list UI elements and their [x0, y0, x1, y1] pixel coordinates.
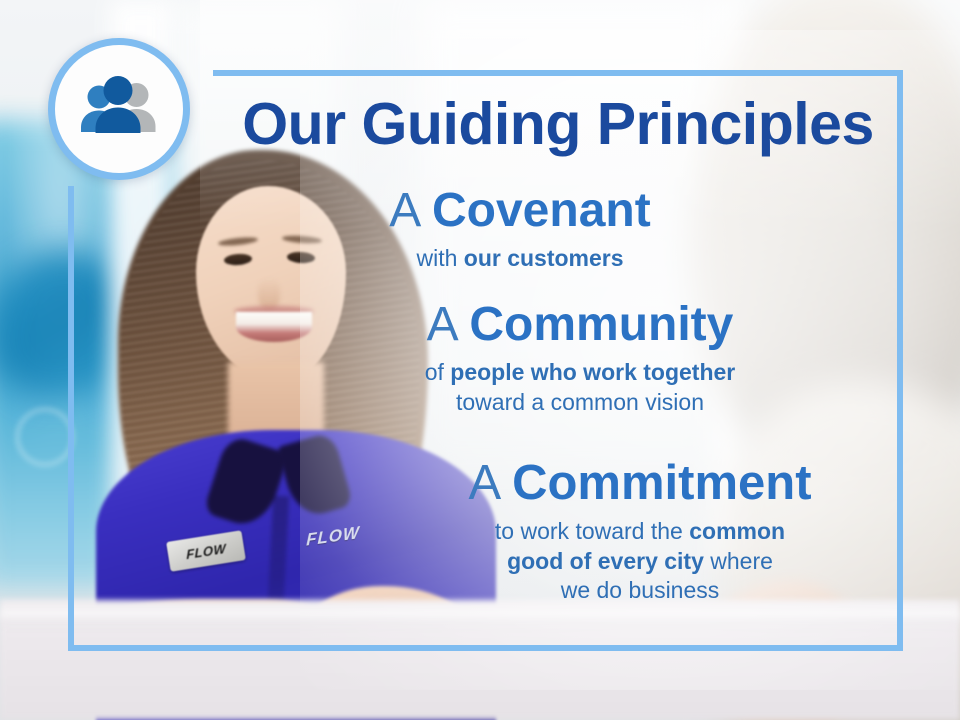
desk-edge-highlight: [0, 610, 960, 624]
subtitle-text: where: [704, 548, 773, 574]
people-icon-badge: [48, 38, 190, 180]
group-of-people-icon: [73, 76, 165, 142]
principle-block-covenant: A Covenant with our customers: [240, 186, 800, 274]
principle-heading: A Covenant: [240, 186, 800, 236]
principle-word: Covenant: [432, 184, 651, 237]
subtitle-emphasis: common: [689, 518, 785, 544]
frame-border-left: [68, 186, 74, 651]
principle-block-community: A Community of people who work togethert…: [300, 300, 860, 417]
principle-article: A: [427, 298, 456, 351]
subtitle-text: to work toward the: [495, 518, 689, 544]
principle-heading: A Community: [300, 300, 860, 350]
guiding-principles-poster: FLOW FLOW: [0, 0, 960, 720]
subtitle-text: we do business: [561, 577, 720, 603]
page-title: Our Guiding Principles: [218, 95, 898, 154]
principle-word: Commitment: [512, 456, 811, 510]
principle-article: A: [389, 184, 418, 237]
subtitle-emphasis: our customers: [464, 245, 624, 271]
principle-block-commitment: A Commitment to work toward the commongo…: [360, 458, 920, 606]
frame-border-bottom: [68, 645, 903, 651]
principle-subtitle: of people who work togethertoward a comm…: [300, 358, 860, 417]
subtitle-emphasis: good of every city: [507, 548, 704, 574]
principle-word: Community: [469, 298, 733, 351]
frame-border-top: [213, 70, 903, 76]
principle-article: A: [468, 456, 498, 510]
subtitle-text: of: [425, 359, 451, 385]
subtitle-text: with: [416, 245, 463, 271]
principle-subtitle: to work toward the commongood of every c…: [360, 517, 920, 605]
subtitle-emphasis: people who work together: [450, 359, 735, 385]
principle-subtitle: with our customers: [240, 244, 800, 273]
principle-heading: A Commitment: [360, 458, 920, 509]
flow-name-badge-label: FLOW: [186, 540, 226, 561]
blurred-car-emblem: [16, 408, 74, 466]
subtitle-text: toward a common vision: [456, 389, 704, 415]
